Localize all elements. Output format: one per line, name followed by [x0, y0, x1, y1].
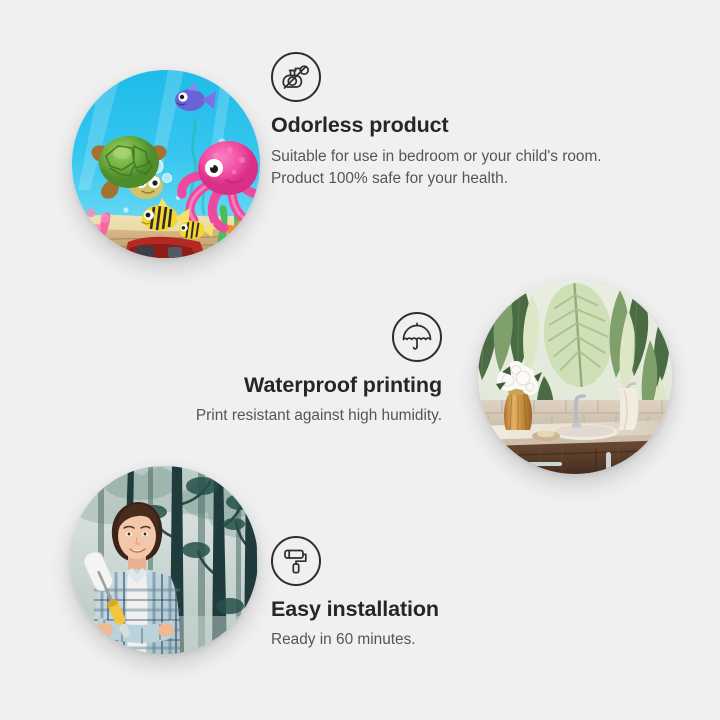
- photo-bathroom-tropical-wallpaper: [478, 280, 672, 474]
- photo-forest-mural-painter: [70, 466, 258, 654]
- paint-roller-icon: [271, 536, 321, 586]
- promo-feature-board: Odorless product Suitable for use in bed…: [0, 0, 720, 720]
- feature-description: Ready in 60 minutes.: [271, 629, 611, 651]
- feature-title: Odorless product: [271, 112, 611, 139]
- feature-description: Print resistant against high humidity.: [100, 405, 442, 427]
- feature-block-easy-installation: Easy installation Ready in 60 minutes.: [271, 536, 611, 651]
- bathroom-scene-graphic: [478, 280, 672, 474]
- feature-block-waterproof: Waterproof printing Print resistant agai…: [100, 312, 442, 427]
- painter-forest-graphic: [70, 466, 258, 654]
- feature-description: Suitable for use in bedroom or your chil…: [271, 146, 611, 191]
- umbrella-icon: [392, 312, 442, 362]
- feature-title: Easy installation: [271, 596, 611, 623]
- feature-block-odorless: Odorless product Suitable for use in bed…: [271, 52, 611, 191]
- underwater-scene-graphic: [72, 70, 260, 258]
- photo-underwater-mural: [72, 70, 260, 258]
- no-odor-spray-bottle-icon: [271, 52, 321, 102]
- feature-title: Waterproof printing: [100, 372, 442, 399]
